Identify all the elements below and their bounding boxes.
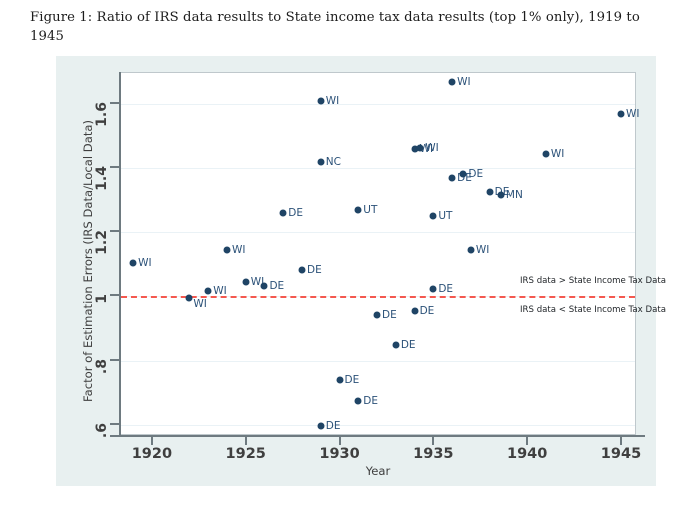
x-axis-tick-label: 1945 — [601, 446, 641, 462]
data-point — [223, 247, 230, 254]
data-point — [355, 397, 362, 404]
data-point — [317, 158, 324, 165]
y-axis-tick — [110, 423, 119, 425]
x-axis-tick — [620, 437, 622, 445]
data-point — [460, 170, 467, 177]
data-point-label: WI — [232, 244, 245, 256]
data-point — [449, 175, 456, 182]
x-axis-tick-label: 1930 — [319, 446, 359, 462]
x-axis-tick — [245, 437, 247, 445]
data-point — [355, 207, 362, 214]
y-axis-tick — [110, 294, 119, 296]
x-axis-tick — [339, 437, 341, 445]
figure-caption: Figure 1: Ratio of IRS data results to S… — [30, 8, 672, 46]
data-point — [261, 282, 268, 289]
gridline — [121, 104, 635, 105]
data-point — [542, 150, 549, 157]
gridline — [121, 232, 635, 233]
data-point — [317, 423, 324, 430]
data-point — [392, 342, 399, 349]
data-point-label: WI — [213, 285, 226, 297]
data-point — [336, 377, 343, 384]
y-axis-title: Factor of Estimation Errors (IRS Data/Lo… — [81, 111, 95, 411]
gridline — [121, 168, 635, 169]
gridline — [121, 361, 635, 362]
data-point-label: WI — [551, 148, 564, 160]
x-axis-tick — [526, 437, 528, 445]
y-axis-tick — [110, 102, 119, 104]
data-point — [417, 145, 424, 152]
data-point-label: WI — [326, 95, 339, 107]
data-point-label: DE — [307, 264, 322, 276]
data-point — [130, 260, 137, 267]
x-axis-line — [110, 435, 645, 437]
data-point-label: DE — [326, 420, 341, 432]
data-point — [430, 212, 437, 219]
y-axis-line — [119, 72, 121, 436]
gridline — [121, 425, 635, 426]
y-axis-tick — [110, 166, 119, 168]
data-point — [205, 288, 212, 295]
data-point-label: DE — [438, 283, 453, 295]
reference-line-label-below: IRS data < State Income Tax Data — [520, 305, 666, 315]
plot-area — [120, 72, 636, 435]
data-point-label: UT — [438, 210, 452, 222]
data-point — [486, 189, 493, 196]
reference-line-label-above: IRS data > State Income Tax Data — [520, 276, 666, 286]
y-axis-tick-label: 1.2 — [94, 230, 110, 255]
data-point — [317, 97, 324, 104]
data-point-label: WI — [193, 298, 206, 310]
data-point-label: WI — [476, 244, 489, 256]
data-point-label: DE — [363, 395, 378, 407]
y-axis-tick — [110, 230, 119, 232]
figure-panel: .6.811.21.41.6 192019251930193519401945 … — [56, 56, 656, 486]
x-axis-title: Year — [120, 464, 636, 478]
y-axis-tick — [110, 359, 119, 361]
x-axis-tick-label: 1925 — [226, 446, 266, 462]
y-axis-tick-label: .6 — [94, 423, 110, 438]
data-point — [186, 294, 193, 301]
x-axis-tick-label: 1940 — [507, 446, 547, 462]
data-point — [242, 279, 249, 286]
data-point — [280, 210, 287, 217]
x-axis-tick — [151, 437, 153, 445]
data-point-label: DE — [401, 339, 416, 351]
data-point-label: DE — [382, 309, 397, 321]
y-axis-tick-label: 1.6 — [94, 102, 110, 127]
data-point — [617, 110, 624, 117]
data-point-label: WI — [138, 257, 151, 269]
data-point — [449, 78, 456, 85]
y-axis-tick-label: 1.4 — [94, 166, 110, 191]
data-point — [299, 266, 306, 273]
data-point — [411, 308, 418, 315]
data-point-label: WI — [626, 108, 639, 120]
data-point — [467, 247, 474, 254]
y-axis-tick-label: 1 — [94, 294, 110, 304]
data-point-label: DE — [468, 168, 483, 180]
data-point-label: UT — [363, 204, 377, 216]
x-axis-tick-label: 1935 — [413, 446, 453, 462]
data-point-label: NC — [326, 156, 341, 168]
x-axis-tick — [432, 437, 434, 445]
data-point — [430, 286, 437, 293]
data-point-label: MN — [506, 189, 523, 201]
data-point — [497, 192, 504, 199]
x-axis-tick-label: 1920 — [132, 446, 172, 462]
data-point-label: WI — [425, 142, 438, 154]
data-point — [374, 311, 381, 318]
y-axis-tick-label: .8 — [94, 359, 110, 374]
data-point-label: DE — [288, 207, 303, 219]
data-point-label: DE — [269, 280, 284, 292]
data-point-label: DE — [420, 305, 435, 317]
data-point-label: DE — [345, 374, 360, 386]
data-point-label: WI — [457, 76, 470, 88]
